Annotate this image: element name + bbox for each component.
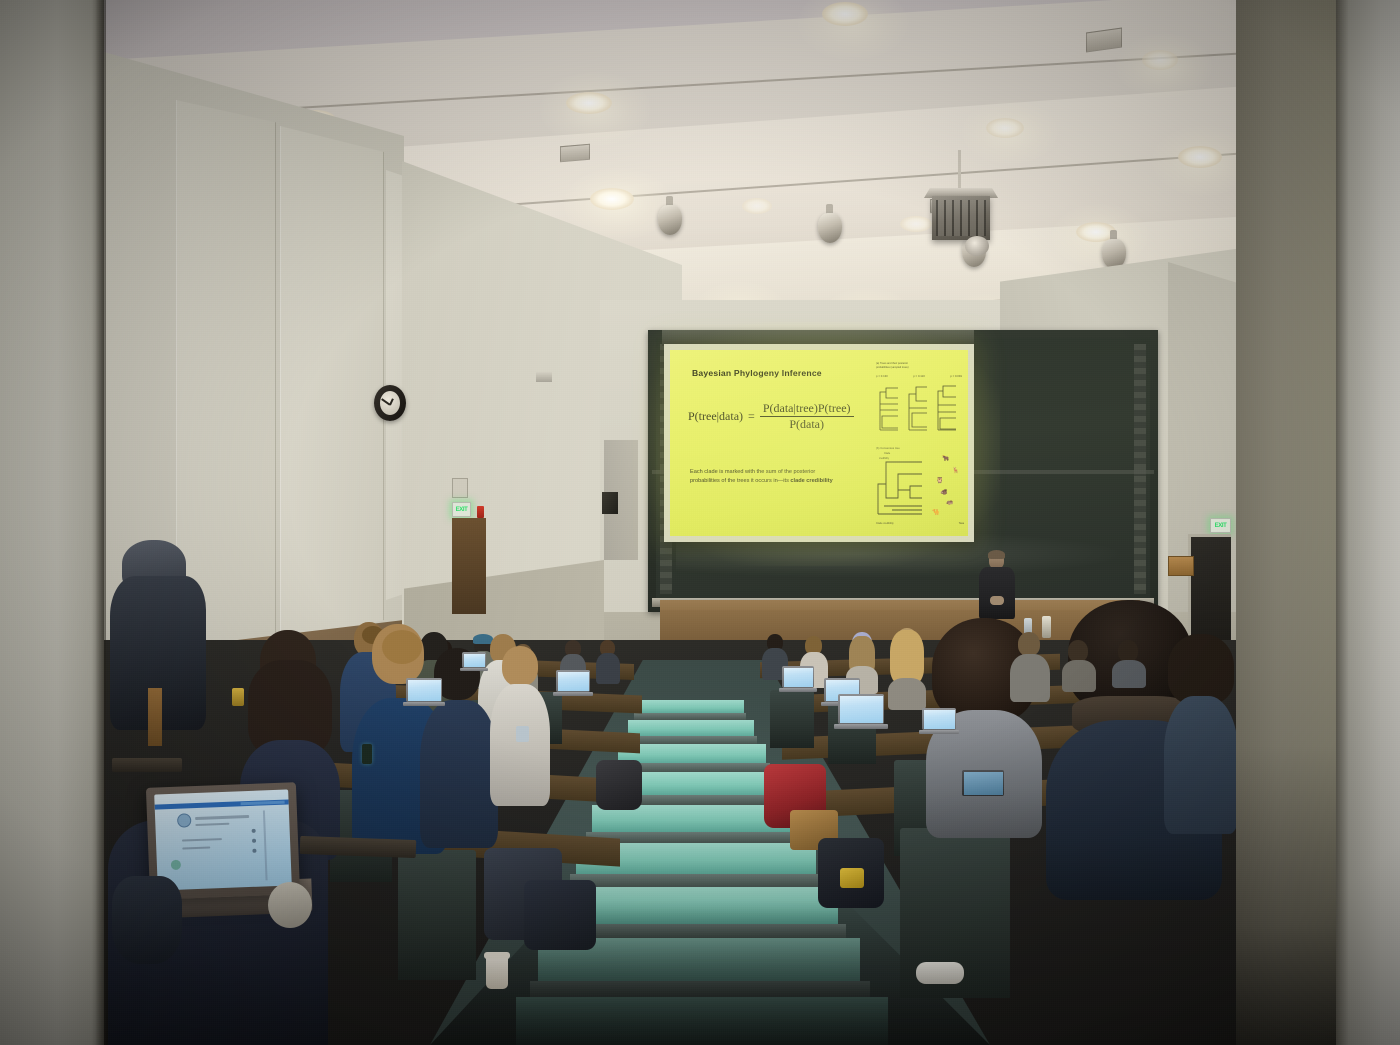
student-torso <box>1010 654 1050 702</box>
wall-panel <box>280 126 384 646</box>
downlight-icon <box>742 198 772 214</box>
page-logo <box>177 813 192 828</box>
page-badge <box>171 860 181 870</box>
figure-top-values: p = 0.130 p = 0.110 p = 0.091 <box>876 374 962 378</box>
exit-sign-left-label: EXIT <box>456 507 468 513</box>
downlight-icon <box>822 2 868 26</box>
desk-arm <box>112 758 182 772</box>
seat-back <box>398 850 476 980</box>
equation-fraction: P(data|tree)P(tree) P(data) <box>760 402 854 432</box>
cladogram-icon <box>878 382 902 434</box>
exit-sign-right-label: EXIT <box>1215 523 1227 529</box>
lecturer-hair <box>988 550 1005 559</box>
backpack-icon <box>524 880 596 950</box>
equation-left: P(tree|data) <box>688 409 743 424</box>
phone-icon <box>516 726 529 742</box>
speaker-icon <box>602 492 618 514</box>
downlight-icon <box>1142 50 1178 70</box>
student-torso <box>888 678 926 710</box>
figure-top-caption-line-2: probabilities (sampled trees) <box>876 366 909 369</box>
figure-top-caption-line-1: (a) Trees and their posterior <box>876 362 908 365</box>
cow-icon: 🐂 <box>942 456 949 462</box>
downlight-icon <box>900 216 932 232</box>
downlight-icon <box>986 118 1024 138</box>
pig-icon: 🐗 <box>940 490 947 496</box>
student-torso <box>596 653 620 684</box>
cladogram-icon <box>907 382 931 434</box>
camel-icon: 🐪 <box>932 510 939 516</box>
slide-figure-consensus-tree: (b) Consensus tree Clade credibility 🐂 🦌… <box>876 446 964 530</box>
lecturer-torso <box>979 567 1015 619</box>
air-vent-icon <box>560 144 590 163</box>
aisle-step-riser <box>570 874 824 887</box>
student-head <box>1068 640 1088 662</box>
student <box>1164 634 1238 834</box>
figure-footer-right: Taxa <box>959 522 964 525</box>
slide-body-line-1: Each clade is marked with the sum of the… <box>690 469 815 475</box>
student-torso <box>1112 660 1146 688</box>
figure-top-value-2: p = 0.110 <box>913 374 925 378</box>
seat-back <box>770 690 814 748</box>
equation-equals: = <box>748 409 755 424</box>
student <box>1062 640 1096 692</box>
lecturer-hands <box>990 596 1004 605</box>
door-jamb-right-shadow <box>1236 745 1346 1045</box>
door-jamb-left-edge <box>96 0 106 1045</box>
coffee-cup-lid <box>484 952 510 959</box>
cladogram-icon <box>936 382 960 434</box>
slide-figure-sampled-trees: (a) Trees and their posterior probabilit… <box>876 362 962 440</box>
aisle-step-riser <box>625 736 757 744</box>
wall-sign-plate <box>1168 556 1194 576</box>
student-torso <box>420 700 498 848</box>
wall-notice-plate <box>452 478 468 498</box>
student-torso <box>1164 696 1238 834</box>
student-hair-bun <box>382 630 422 664</box>
student-torso <box>490 684 550 806</box>
lecture-hall-photo: EXIT EXIT Bayesian Phylogeny Inference P… <box>0 0 1400 1045</box>
backpack-icon <box>596 760 642 810</box>
equation-numerator: P(data|tree)P(tree) <box>760 402 854 415</box>
slide-title: Bayesian Phylogeny Inference <box>692 368 822 378</box>
antelope-icon: 🦌 <box>952 468 959 474</box>
student-head <box>502 646 538 686</box>
downlight-icon <box>1178 146 1222 168</box>
aisle-step-riser <box>634 713 746 720</box>
laptop-screen[interactable] <box>154 789 292 890</box>
student-head <box>1018 632 1040 656</box>
aisle-step <box>618 744 766 764</box>
coffee-cup-icon <box>486 955 508 989</box>
aisle-step <box>628 720 754 737</box>
person-arm <box>112 876 182 964</box>
student <box>1010 632 1050 702</box>
figure-bottom-caption: (b) Consensus tree <box>876 446 900 450</box>
slide-surface: Bayesian Phylogeny Inference P(tree|data… <box>670 350 968 536</box>
aisle-step <box>636 700 744 714</box>
wall-sensor-icon <box>536 372 552 382</box>
exit-sign-right: EXIT <box>1210 518 1231 533</box>
consensus-cladogram-icon <box>876 454 940 522</box>
hippo-icon: 🦛 <box>946 500 953 506</box>
figure-top-value-3: p = 0.091 <box>950 374 962 378</box>
figure-top-value-1: p = 0.130 <box>876 374 888 378</box>
door-jamb-right <box>1336 0 1400 1045</box>
student <box>1112 640 1146 688</box>
student-hair <box>1168 634 1234 704</box>
headphones-icon <box>268 882 312 928</box>
board-side-track <box>1134 344 1146 594</box>
slide-body-text: Each clade is marked with the sum of the… <box>690 468 876 485</box>
downlight-icon <box>566 92 612 114</box>
equation-denominator: P(data) <box>786 418 827 431</box>
figure-bottom-footer: Clade credibility Taxa <box>876 522 964 525</box>
moose-icon: 🦉 <box>936 478 943 484</box>
door-jamb-left <box>0 0 104 1045</box>
student-hair <box>890 630 924 684</box>
lecturer-standing <box>975 552 1021 624</box>
projector-lens <box>965 236 989 256</box>
fire-alarm-icon <box>477 506 484 518</box>
left-door <box>452 518 486 614</box>
bag-strap <box>840 868 864 888</box>
phone-icon <box>362 744 372 764</box>
slide-body-line-2: probabilities of the trees it occurs in—… <box>690 478 790 484</box>
shoe-icon <box>916 962 964 984</box>
figure-top-caption: (a) Trees and their posterior probabilit… <box>876 362 962 370</box>
exit-sign-left: EXIT <box>452 502 471 517</box>
page-divider <box>263 810 267 880</box>
figure-footer-left: Clade credibility <box>876 522 894 525</box>
student-torso <box>1062 660 1096 692</box>
slide-body-emphasis: clade credibility <box>790 478 832 484</box>
student <box>596 640 620 684</box>
student <box>888 628 926 710</box>
downlight-icon <box>590 188 634 210</box>
student-head <box>1118 640 1138 662</box>
slide-equation: P(tree|data) = P(data|tree)P(tree) P(dat… <box>688 402 893 432</box>
projector-vents <box>936 200 986 236</box>
